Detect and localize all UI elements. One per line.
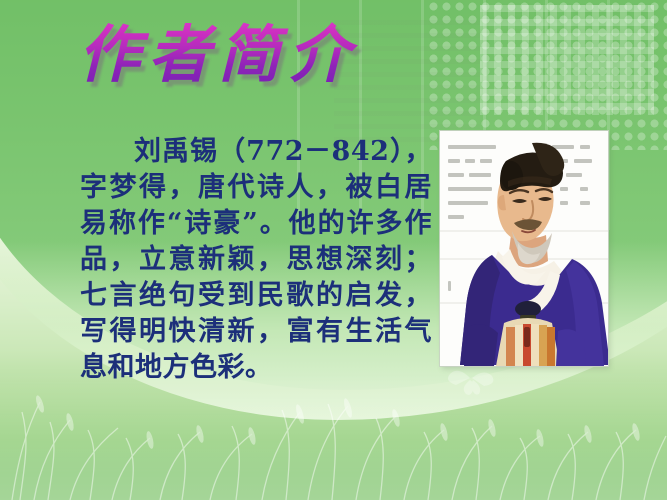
slide: 作者简介 刘禹锡（772－842），字梦得，唐代诗人，被白居易称作“诗豪”。他的… bbox=[0, 0, 667, 500]
poet-portrait-image bbox=[440, 131, 608, 366]
author-biography-text: 刘禹锡（772－842），字梦得，唐代诗人，被白居易称作“诗豪”。他的许多作品，… bbox=[80, 134, 432, 386]
page-title: 作者简介 bbox=[78, 22, 358, 87]
